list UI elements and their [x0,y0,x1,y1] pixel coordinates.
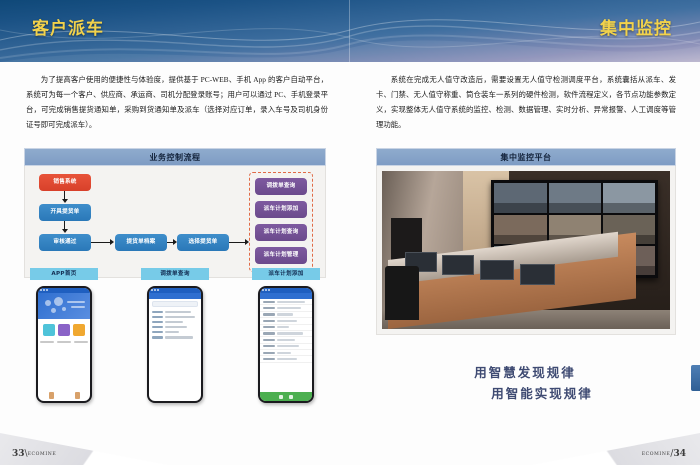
search-input[interactable] [152,301,198,307]
phone-screen-list [149,288,201,401]
right-page-footer: ECOMINE/34 [642,441,686,460]
form-submit-bar[interactable] [260,392,312,401]
flow-node-delivery-order-archive[interactable]: 提货单档案 [115,234,167,251]
app-tile-row[interactable] [38,319,90,341]
control-room-photo [382,171,670,329]
flow-node-audit-passed[interactable]: 审核通过 [39,234,91,251]
right-page: 系统在完成无人值守改造后，需要设置无人值守检测调度平台，系统囊括从派车、发卡、门… [350,62,700,465]
banner-wave-decoration [0,0,700,62]
phone-screen-form [260,288,312,401]
form-field [260,356,312,362]
flow-arrow-head-2 [62,229,68,233]
flow-node-dispatch-plan-add[interactable]: 派车计划添加 [255,201,307,218]
monitoring-platform-panel: 集中监控平台 [376,148,676,335]
page-edge-tab [691,365,700,391]
banner-center-seam [349,0,350,62]
flow-node-select-delivery-order[interactable]: 选择提货单 [177,234,229,251]
left-page: 为了提高客户使用的便捷性与体验度，提供基于 PC-WEB、手机 App 的客户自… [0,62,350,465]
left-page-title: 客户派车 [32,14,104,39]
flow-node-transfer-order-query[interactable]: 调拨单查询 [255,178,307,195]
phone-frame-home[interactable] [36,286,92,403]
phone-screen-home [38,288,90,401]
slogan-line-2: 用智能实现规律 [350,383,700,404]
right-body-paragraph: 系统在完成无人值守改造后，需要设置无人值守检测调度平台，系统囊括从派车、发卡、门… [376,72,676,132]
left-page-number: 33 [12,449,25,459]
monitoring-platform-title: 集中监控平台 [376,148,676,166]
video-wall-cell [603,183,655,212]
phone-mockup-form: 派车计划添加 [246,268,326,403]
phone-frame-form[interactable] [258,286,314,403]
app-screenshots-row: APP首页 [24,268,326,418]
phone-mockup-list: 调拨单查询 [135,268,215,403]
operator-chair [385,266,420,320]
left-body-paragraph: 为了提高客户使用的便捷性与体验度，提供基于 PC-WEB、手机 App 的客户自… [26,72,328,132]
phone-caption-home: APP首页 [30,268,98,280]
console-monitor [480,260,515,281]
app-tile-icon-2[interactable] [58,324,70,336]
phone-caption-form: 派车计划添加 [252,268,320,280]
app-tile-icon-1[interactable] [43,324,55,336]
flow-arrow-5 [229,242,246,243]
video-wall-cell [494,183,546,212]
console-monitor [442,255,474,276]
business-flow-canvas: 销售系统 开具提货单 审核通过 提货单档案 选择提货单 调拨单查询 [24,166,326,278]
flow-node-dispatch-plan-manage[interactable]: 派车计划管理 [255,247,307,264]
flow-arrow-head-1 [62,199,68,203]
app-tile-icon-3[interactable] [73,324,85,336]
left-page-footer: 33\ECOMINE [12,441,56,460]
slogan-block: 用智慧发现规律 用智能实现规律 [350,362,700,404]
app-tile-labels [38,341,90,343]
business-flow-title: 业务控制流程 [24,148,326,166]
flow-arrow-head-3 [110,239,114,245]
phone-frame-list[interactable] [147,286,203,403]
video-wall-cell [549,183,601,212]
left-footer-brand: ECOMINE [28,452,57,457]
monitoring-photo-frame [376,166,676,335]
flow-node-dispatch-plan-query[interactable]: 派车计划查询 [255,224,307,241]
phone-mockup-home: APP首页 [24,268,104,403]
business-flow-panel: 业务控制流程 销售系统 开具提货单 审核通过 提货单档案 选择提货单 [24,148,326,278]
console-monitor [520,264,555,285]
flow-node-issue-delivery-order[interactable]: 开具提货单 [39,204,91,221]
flow-arrow-head-4 [173,239,177,245]
flow-node-sales-system[interactable]: 销售系统 [39,174,91,191]
slogan-line-1: 用智慧发现规律 [350,362,700,383]
brochure-spread: 客户派车 集中监控 为了提高客户使用的便捷性与体验度，提供基于 PC-WEB、手… [0,0,700,465]
flow-arrow-3 [91,242,111,243]
right-page-title: 集中监控 [600,14,672,39]
header-banner: 客户派车 集中监控 [0,0,700,62]
app-tab-bar[interactable] [38,389,90,401]
right-footer-brand: ECOMINE [642,452,671,457]
video-wall-cell [494,215,546,244]
list-item [149,335,201,340]
app-hero-banner [38,293,90,319]
list-app-bar [149,293,201,299]
right-page-number: 34 [673,449,686,459]
phone-caption-list: 调拨单查询 [141,268,209,280]
